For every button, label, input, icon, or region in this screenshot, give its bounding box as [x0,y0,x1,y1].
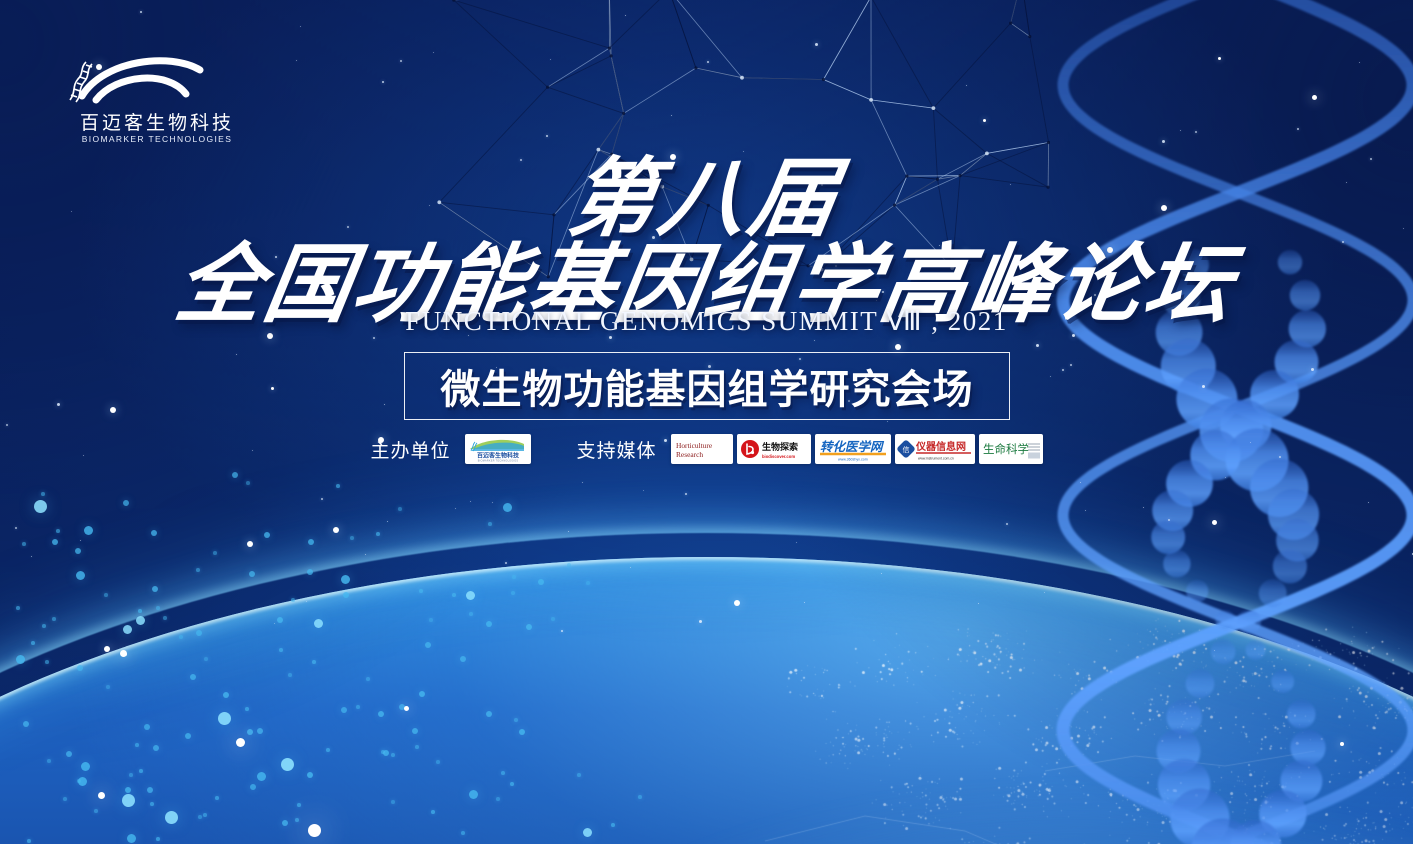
svg-text:转化医学网: 转化医学网 [820,439,885,454]
svg-text:Horticulture: Horticulture [676,441,713,450]
svg-text:www.360zhyx.com: www.360zhyx.com [838,458,868,462]
session-title-box: 微生物功能基因组学研究会场 [404,352,1010,420]
svg-text:biodiscover.com: biodiscover.com [762,454,795,459]
conference-banner: 百迈客生物科技 BIOMARKER TECHNOLOGIES 第八届 全国功能基… [0,0,1413,844]
organizer-label: 主办单位 [370,436,450,463]
svg-text:百迈客生物科技: 百迈客生物科技 [476,452,519,460]
media-logo-list: Horticulture Research 生物探索 biodiscover.c… [671,434,1043,464]
dna-arch-logo-icon [62,48,252,108]
dna-double-helix-icon [893,0,1413,844]
biodiscover-icon: 生物探索 biodiscover.com [738,435,810,463]
subtitle-english: FUNCTIONAL GENOMICS SUMMIT Ⅷ , 2021 [0,306,1413,337]
svg-text:BIOMARKER TECHNOLOGIES: BIOMARKER TECHNOLOGIES [477,460,518,463]
translational-medicine-icon: 转化医学网 www.360zhyx.com [816,435,890,463]
media-logo-instrument-info[interactable]: 信 仪器信息网 www.instrument.com.cn [895,434,975,464]
session-title-text: 微生物功能基因组学研究会场 [441,357,974,415]
svg-text:信: 信 [902,445,909,454]
instrument-info-net-icon: 信 仪器信息网 www.instrument.com.cn [896,435,974,463]
media-logo-biodiscover[interactable]: 生物探索 biodiscover.com [737,434,811,464]
media-label: 支持媒体 [577,436,657,463]
svg-text:生命科学: 生命科学 [983,442,1029,456]
media-logo-life-science[interactable]: 生命科学 [979,434,1043,464]
svg-text:仪器信息网: 仪器信息网 [915,440,966,453]
horticulture-research-icon: Horticulture Research [672,435,732,463]
organizer-logo-card[interactable]: 百迈客生物科技 BIOMARKER TECHNOLOGIES [465,434,531,464]
media-logo-translational-medicine[interactable]: 转化医学网 www.360zhyx.com [815,434,891,464]
svg-text:Research: Research [676,450,703,459]
life-science-icon: 生命科学 [980,435,1042,463]
sponsor-row: 主办单位 百迈客生物科技 BIOMARKER TECHNOLOGIES 支持媒体… [0,434,1413,464]
svg-text:生物探索: 生物探索 [762,441,798,453]
biomarker-arch-logo-icon: 百迈客生物科技 BIOMARKER TECHNOLOGIES [466,435,530,463]
media-logo-horticulture-research[interactable]: Horticulture Research [671,434,733,464]
svg-text:www.instrument.com.cn: www.instrument.com.cn [918,457,954,461]
